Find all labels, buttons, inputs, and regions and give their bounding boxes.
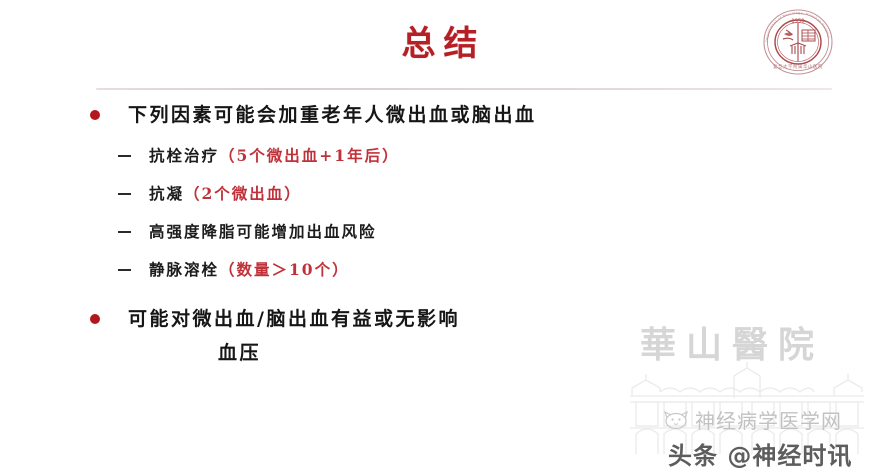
dash-icon	[118, 269, 131, 271]
sub-item: 抗栓治疗（5个微出血+1年后）	[0, 143, 887, 168]
watermark-site-label: 神经病学医学网	[695, 405, 842, 434]
presentation-slide: 1950 复旦大学附属华山医院 Department of Neurology,…	[0, 0, 887, 474]
sub-item-highlight: （5个微出血+1年后）	[219, 146, 400, 165]
watermark-hospital-name: 華山醫院	[640, 316, 824, 368]
watermark-toutiao: 头条 @神经时讯	[668, 436, 852, 471]
sub-item: 静脉溶栓（数量＞10个）	[0, 257, 887, 282]
title-divider	[96, 88, 832, 90]
sub-item: 高强度降脂可能增加出血风险	[0, 219, 887, 244]
bullet-item: 下列因素可能会加重老年人微出血或脑出血	[0, 100, 887, 130]
sub-item-plain: 静脉溶栓	[149, 260, 219, 279]
sub-item-plain: 高强度降脂可能增加出血风险	[149, 222, 377, 241]
bullet-text: 下列因素可能会加重老年人微出血或脑出血	[128, 100, 537, 130]
sub-item-text: 抗栓治疗（5个微出血+1年后）	[149, 143, 400, 168]
sub-item-text: 抗凝（2个微出血）	[149, 181, 302, 206]
dash-icon	[118, 193, 131, 195]
bullet-text: 可能对微出血/脑出血有益或无影响	[128, 304, 460, 334]
sub-item-text: 静脉溶栓（数量＞10个）	[149, 257, 350, 282]
dash-icon	[118, 155, 131, 157]
dash-icon	[118, 231, 131, 233]
slide-title: 总结	[0, 16, 887, 65]
cat-face-icon	[663, 410, 689, 430]
sub-item: 抗凝（2个微出血）	[0, 181, 887, 206]
sub-item-highlight: （2个微出血）	[184, 184, 302, 203]
bullet-dot-icon	[90, 110, 100, 120]
sub-item-text: 高强度降脂可能增加出血风险	[149, 219, 377, 244]
bullet-dot-icon	[90, 314, 100, 324]
sub-item-highlight: （数量＞10个）	[219, 260, 350, 279]
sub-item-plain: 抗凝	[149, 184, 184, 203]
watermark-site: 神经病学医学网	[663, 405, 842, 434]
sub-item-plain: 抗栓治疗	[149, 146, 219, 165]
